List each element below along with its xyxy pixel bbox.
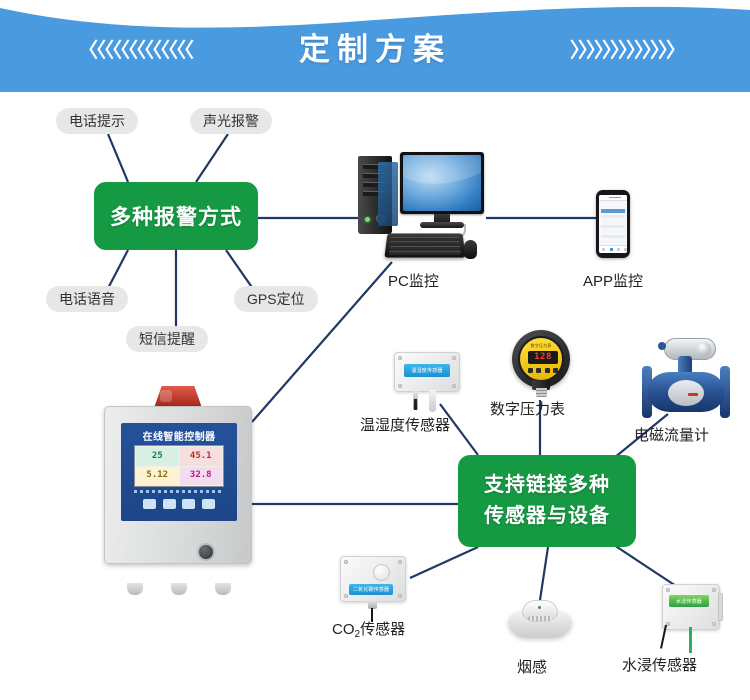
pc-tower-side-panel [378, 162, 398, 226]
co2-sensor-icon: 二氧化碳传感器 [340, 556, 406, 602]
caption-smoke-detector: 烟感 [517, 656, 547, 677]
water-immersion-sensor-icon: 水浸传感器 [662, 584, 720, 630]
flow-meter-bolt [658, 342, 666, 350]
node-supported-sensors-line1: 支持链接多种 [484, 470, 610, 501]
gauge-thread [536, 388, 547, 397]
water-sensor-probe-cable [689, 627, 692, 653]
diagram-canvas: 〈〈〈〈〈〈〈〈〈〈〈〈〈 定制方案 〉〉〉〉〉〉〉〉〉〉〉〉〉 [0, 0, 750, 700]
lcd-reading-1: 25 [152, 452, 163, 461]
pc-monitor [400, 152, 484, 214]
controller-knob[interactable] [197, 543, 215, 561]
pc-mouse [464, 240, 477, 259]
wire-hub-to-co2 [410, 547, 478, 578]
desktop-computer-icon [358, 152, 486, 262]
gauge-buttons[interactable] [528, 368, 558, 373]
wire-alarm-to-phone-prompt [108, 134, 128, 182]
pill-label: 短信提醒 [126, 326, 208, 352]
pill-label: GPS定位 [234, 286, 318, 312]
pill-label: 电话提示 [56, 108, 138, 134]
pill-phone-prompt[interactable]: 电话提示 [56, 108, 138, 134]
controller-indicator-strip [134, 490, 224, 493]
smoke-detector-vent [528, 616, 552, 621]
pill-label: 声光报警 [190, 108, 272, 134]
digital-pressure-gauge-icon: 数字压力表 128 [506, 330, 580, 396]
alarm-beacon-icon [154, 386, 202, 408]
sensor-brand-label: 水浸传感器 [669, 595, 709, 607]
sensor-brand-label: 二氧化碳传感器 [349, 584, 393, 595]
gauge-face-title: 数字压力表 [520, 343, 562, 349]
node-alarm-methods[interactable]: 多种报警方式 [94, 182, 258, 250]
water-sensor-mount-tabs [718, 593, 723, 621]
lcd-reading-3: 5.12 [146, 471, 168, 480]
pill-sms-reminder[interactable]: 短信提醒 [126, 326, 208, 352]
gauge-led-display: 128 [528, 351, 558, 364]
flow-meter-marking [688, 393, 698, 396]
flow-meter-bore [668, 380, 704, 406]
controller-lcd-display: 25 45.1 5.12 32.8 [134, 445, 224, 487]
caption-app-monitoring: APP监控 [583, 270, 643, 291]
node-alarm-methods-label: 多种报警方式 [110, 201, 242, 231]
gauge-value: 128 [534, 353, 552, 362]
co2-sensor-vent [373, 564, 390, 581]
pill-phone-voice[interactable]: 电话语音 [46, 286, 128, 312]
electromagnetic-flow-meter-icon [638, 338, 734, 420]
pc-keyboard [384, 233, 465, 257]
smoke-detector-icon [508, 600, 572, 640]
temperature-humidity-sensor-icon: 温湿度传感器 [394, 352, 460, 392]
online-smart-controller: 在线智能控制器 25 45.1 5.12 32.8 [104, 386, 252, 584]
pill-gps-location[interactable]: GPS定位 [234, 286, 318, 312]
wire-alarm-to-audible-alarm [196, 134, 228, 182]
gauge-face: 数字压力表 128 [518, 336, 564, 382]
caption-pc-monitoring: PC监控 [388, 270, 439, 291]
caption-co2-sensor: CO2传感器 [332, 618, 405, 639]
node-supported-sensors-line2: 传感器与设备 [484, 501, 610, 532]
wire-hub-to-water [614, 545, 676, 586]
lcd-reading-4: 32.8 [190, 471, 212, 480]
controller-panel: 在线智能控制器 25 45.1 5.12 32.8 [121, 423, 237, 521]
caption-temperature-humidity-sensor: 温湿度传感器 [360, 414, 450, 435]
pill-label: 电话语音 [46, 286, 128, 312]
lcd-reading-2: 45.1 [190, 452, 212, 461]
sensor-brand-label: 温湿度传感器 [404, 364, 450, 377]
controller-body: 在线智能控制器 25 45.1 5.12 32.8 [104, 406, 252, 564]
smoke-detector-led [538, 606, 541, 609]
controller-panel-title: 在线智能控制器 [121, 428, 237, 443]
caption-digital-pressure-gauge: 数字压力表 [490, 398, 565, 419]
pill-audible-alarm[interactable]: 声光报警 [190, 108, 272, 134]
caption-electromagnetic-flow-meter: 电磁流量计 [634, 424, 709, 445]
caption-water-immersion-sensor: 水浸传感器 [622, 654, 697, 675]
wire-hub-to-smoke [540, 547, 548, 600]
node-supported-sensors[interactable]: 支持链接多种 传感器与设备 [458, 455, 636, 547]
smartphone-icon [596, 190, 630, 258]
phone-screen [599, 195, 627, 253]
controller-cable-glands [127, 583, 231, 595]
controller-button-row[interactable] [143, 499, 215, 509]
